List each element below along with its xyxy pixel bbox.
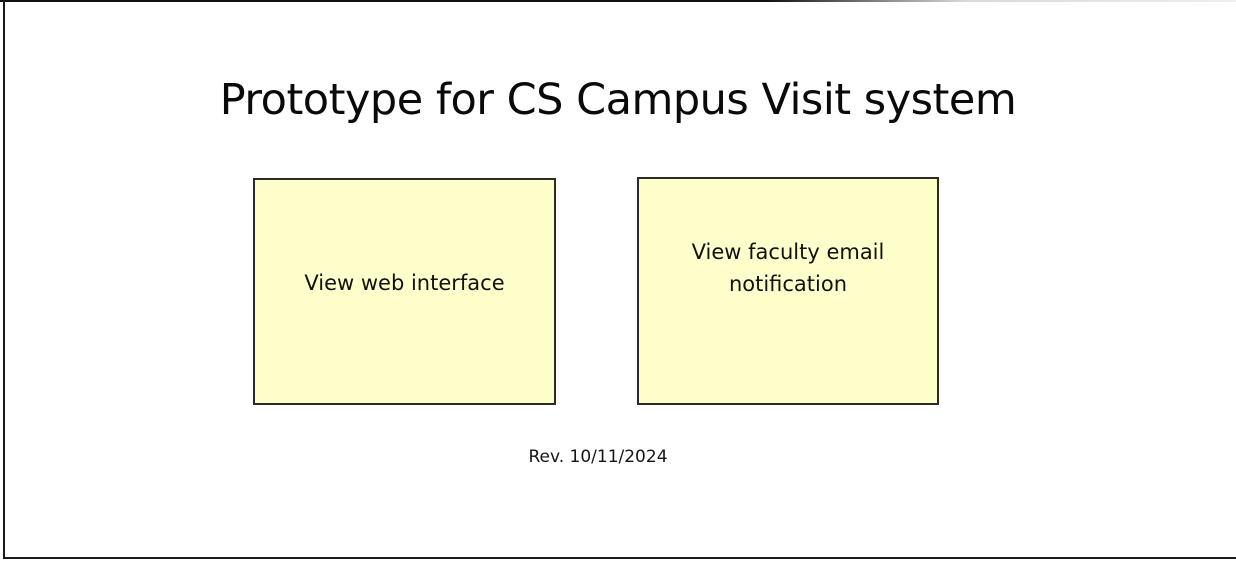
view-faculty-email-notification-label: View faculty email notification [678, 237, 899, 301]
email-label-line-1: View faculty email [692, 240, 885, 264]
revision-text: Rev. 10/11/2024 [0, 447, 1196, 467]
view-web-interface-label: View web interface [290, 268, 518, 300]
view-faculty-email-notification-button[interactable]: View faculty email notification [637, 177, 939, 405]
slide-frame-top-border [0, 0, 1236, 2]
slide-frame-bottom-border [3, 557, 1236, 559]
slide-canvas: Prototype for CS Campus Visit system Vie… [0, 0, 1236, 567]
email-label-line-2: notification [729, 272, 847, 296]
page-title: Prototype for CS Campus Visit system [0, 78, 1236, 123]
view-web-interface-button[interactable]: View web interface [253, 178, 556, 405]
